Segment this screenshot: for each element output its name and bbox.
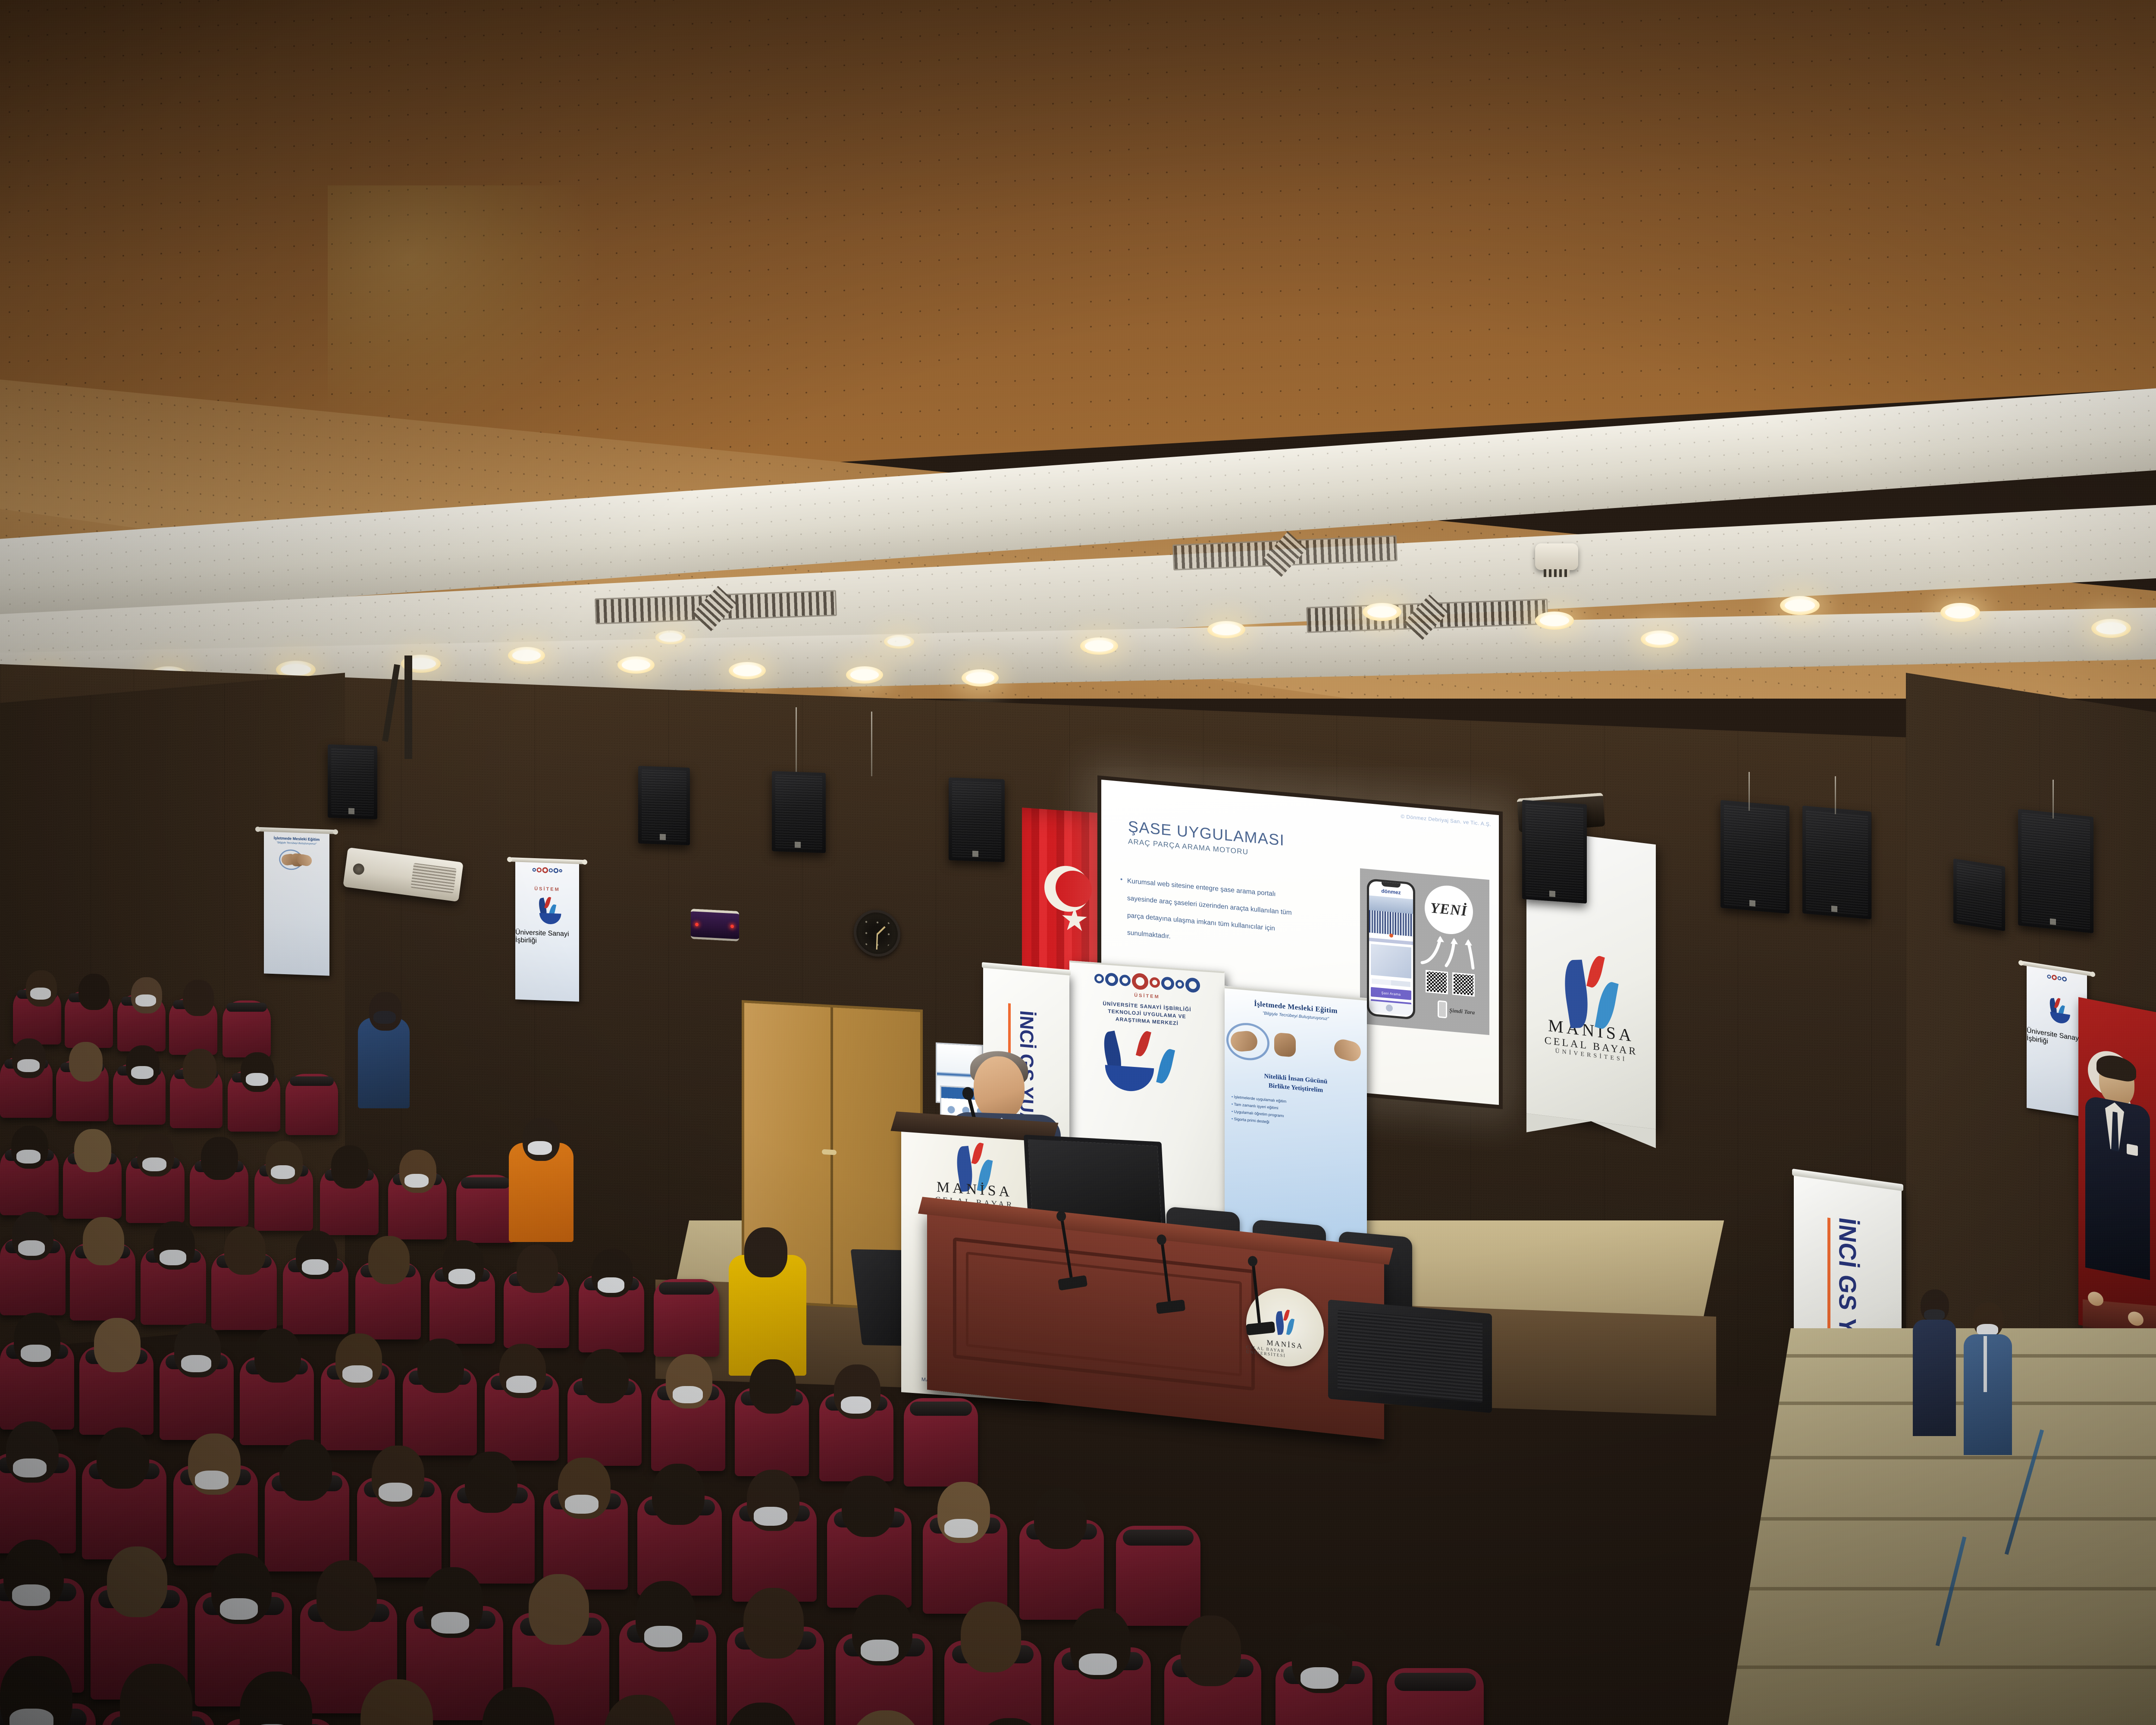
slide-copyright: © Dönmez Debriyaj San. ve Tic. A.Ş. — [1401, 813, 1491, 828]
speaker-suspension-wire — [1835, 776, 1836, 814]
status-display-panel — [691, 909, 739, 941]
audience-seating — [0, 940, 2156, 1725]
ceiling-downlight-icon — [2091, 619, 2131, 638]
loudspeaker-icon — [772, 771, 826, 853]
speaker-suspension-wire — [871, 712, 872, 776]
loudspeaker-icon — [328, 744, 377, 819]
projector-vent — [411, 863, 457, 894]
ceiling-downlight-icon — [729, 662, 766, 679]
ceiling-downlight-icon — [1940, 603, 1980, 622]
loudspeaker-icon — [1802, 806, 1871, 919]
loudspeaker-icon — [949, 778, 1005, 862]
ceiling-downlight-icon — [1535, 612, 1574, 630]
ceiling-downlight-icon — [1363, 603, 1401, 621]
loudspeaker-icon — [1720, 800, 1789, 914]
speaker-suspension-wire — [2053, 780, 2054, 819]
ceiling-downlight-icon — [962, 669, 999, 687]
ceiling-downlight-icon — [1641, 630, 1679, 648]
loudspeaker-icon — [1522, 800, 1587, 903]
ceiling-downlight-icon — [846, 666, 883, 684]
auditorium-scene: İşletmede Mesleki Eğitim "Bilgiyle Tecrü… — [0, 0, 2156, 1725]
speaker-suspension-wire — [1749, 772, 1750, 811]
phone-hero-image — [1369, 895, 1413, 936]
speaker-suspension-wire — [796, 707, 797, 776]
ceiling-downlight-icon — [884, 635, 914, 649]
ceiling-downlight-icon — [655, 630, 686, 644]
projector-mount-pole — [404, 655, 412, 759]
status-indicator-led — [730, 925, 734, 928]
phone-app-logo: dönmez — [1369, 887, 1413, 897]
ceiling-downlight-icon — [1207, 621, 1245, 638]
smoke-detector-icon — [1535, 543, 1578, 570]
loudspeaker-icon — [2018, 809, 2093, 933]
ceiling-downlight-icon — [617, 656, 655, 674]
hanging-banner-slogan: "Bilgiyle Tecrübeyi Buluşturuyoruz" — [264, 841, 329, 846]
ceiling-downlight-icon — [1780, 596, 1820, 615]
ceiling-downlight-icon — [508, 647, 545, 664]
status-indicator-led — [695, 923, 699, 926]
new-badge: YENİ — [1425, 884, 1473, 936]
ceiling — [0, 0, 2156, 699]
phone-notch — [1382, 882, 1401, 888]
projector-lens — [352, 863, 365, 875]
phone-accent-dot — [1389, 933, 1393, 938]
new-badge-label: YENİ — [1430, 900, 1467, 920]
usitem-acronym: ÜSİTEM — [515, 885, 579, 893]
ceiling-downlight-icon — [1080, 637, 1118, 655]
loudspeaker-icon — [638, 766, 690, 845]
flag-crescent — [1044, 864, 1090, 913]
loudspeaker-icon — [1953, 858, 2005, 931]
